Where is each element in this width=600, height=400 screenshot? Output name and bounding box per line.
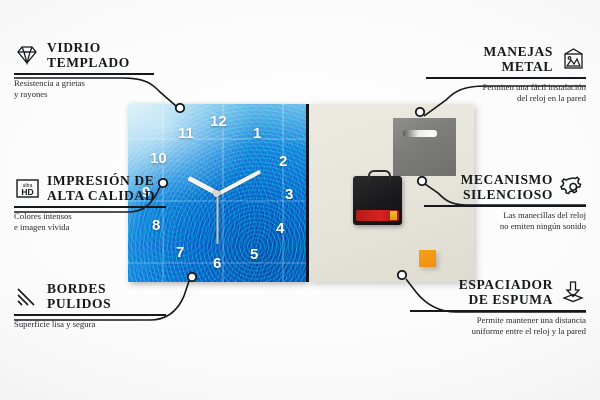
infographic-canvas: 12 1 2 3 4 5 6 7 8 9 10 11 [0, 0, 600, 400]
callout-title-line2: DE ESPUMA [459, 292, 553, 307]
foam-spacer-pad [419, 250, 436, 267]
callout-desc-line1: Colores intensos [14, 211, 166, 222]
callout-header: BORDES PULIDOS [14, 281, 166, 311]
callout-hd-print: ultra HD IMPRESIÓN DE ALTA CALIDAD Color… [14, 173, 166, 233]
callout-desc-line2: del reloj en la pared [426, 93, 586, 104]
callout-header: VIDRIO TEMPLADO [14, 40, 154, 70]
clock-numeral-3: 3 [285, 187, 293, 202]
ultra-hd-icon: ultra HD [14, 176, 40, 200]
callout-desc-line1: Permite mantener una distancia [410, 315, 586, 326]
callout-rule [410, 310, 586, 312]
clock-numeral-12: 12 [210, 114, 227, 129]
callout-title-line1: ESPACIADOR [459, 277, 553, 292]
battery [356, 210, 399, 221]
callout-title-line1: MECANISMO [461, 172, 553, 187]
callout-desc-line2: y rayones [14, 89, 154, 100]
clock-numeral-2: 2 [279, 154, 287, 169]
svg-text:HD: HD [21, 187, 33, 197]
callout-rule [426, 77, 586, 79]
callout-desc-line2: e imagen vívida [14, 222, 166, 233]
callout-polished-edges: BORDES PULIDOS Superficie lisa y segura [14, 281, 166, 330]
clock-mechanism-box [353, 176, 402, 225]
callout-header: MANEJAS METAL [426, 44, 586, 74]
callout-title-line1: IMPRESIÓN DE [47, 173, 155, 188]
picture-frame-icon [560, 47, 586, 71]
callout-rule [14, 314, 166, 316]
product-photo: 12 1 2 3 4 5 6 7 8 9 10 11 [128, 104, 474, 282]
callout-rule [14, 206, 166, 208]
clock-second-hand [217, 194, 219, 244]
callout-title-line1: VIDRIO [47, 40, 130, 55]
clock-numeral-10: 10 [150, 151, 167, 166]
diagonal-stripes-icon [14, 284, 40, 308]
callout-desc-line1: Las manecillas del reloj [424, 210, 586, 221]
clock-numeral-5: 5 [250, 247, 258, 262]
clock-numeral-4: 4 [276, 221, 284, 236]
callout-metal-handles: MANEJAS METAL Permiten una fácil instala… [426, 44, 586, 104]
mechanism-hook [368, 170, 391, 181]
callout-desc-line2: uniforme entre el reloj y la pared [410, 326, 586, 337]
callout-title-line2: PULIDOS [47, 296, 111, 311]
callout-title-line2: METAL [484, 59, 553, 74]
metal-hanger-plate [393, 118, 456, 176]
hanger-slot [403, 130, 437, 137]
callout-header: ESPACIADOR DE ESPUMA [410, 277, 586, 307]
callout-desc-line2: no emiten ningún sonido [424, 221, 586, 232]
callout-header: ultra HD IMPRESIÓN DE ALTA CALIDAD [14, 173, 166, 203]
down-arrow-pad-icon [560, 280, 586, 304]
callout-desc-line1: Superficie lisa y segura [14, 319, 166, 330]
callout-desc-line1: Resistencia a grietas [14, 78, 154, 89]
callout-title-line2: TEMPLADO [47, 55, 130, 70]
callout-title-line1: BORDES [47, 281, 111, 296]
callout-desc-line1: Permiten una fácil instalación [426, 82, 586, 93]
clock-numeral-1: 1 [253, 126, 261, 141]
callout-title-line2: SILENCIOSO [461, 187, 553, 202]
gear-icon [560, 175, 586, 199]
callout-title-line2: ALTA CALIDAD [47, 188, 155, 203]
clock-numeral-6: 6 [213, 256, 221, 271]
callout-title-line1: MANEJAS [484, 44, 553, 59]
callout-silent-mechanism: MECANISMO SILENCIOSO Las manecillas del … [424, 172, 586, 232]
callout-tempered-glass: VIDRIO TEMPLADO Resistencia a grietas y … [14, 40, 154, 100]
callout-rule [14, 73, 154, 75]
callout-header: MECANISMO SILENCIOSO [424, 172, 586, 202]
callout-foam-spacer: ESPACIADOR DE ESPUMA Permite mantener un… [410, 277, 586, 337]
clock-numeral-11: 11 [178, 126, 194, 141]
callout-rule [424, 205, 586, 207]
clock-center-cap [213, 190, 220, 197]
diamond-icon [14, 43, 40, 67]
clock-numeral-7: 7 [176, 245, 184, 260]
